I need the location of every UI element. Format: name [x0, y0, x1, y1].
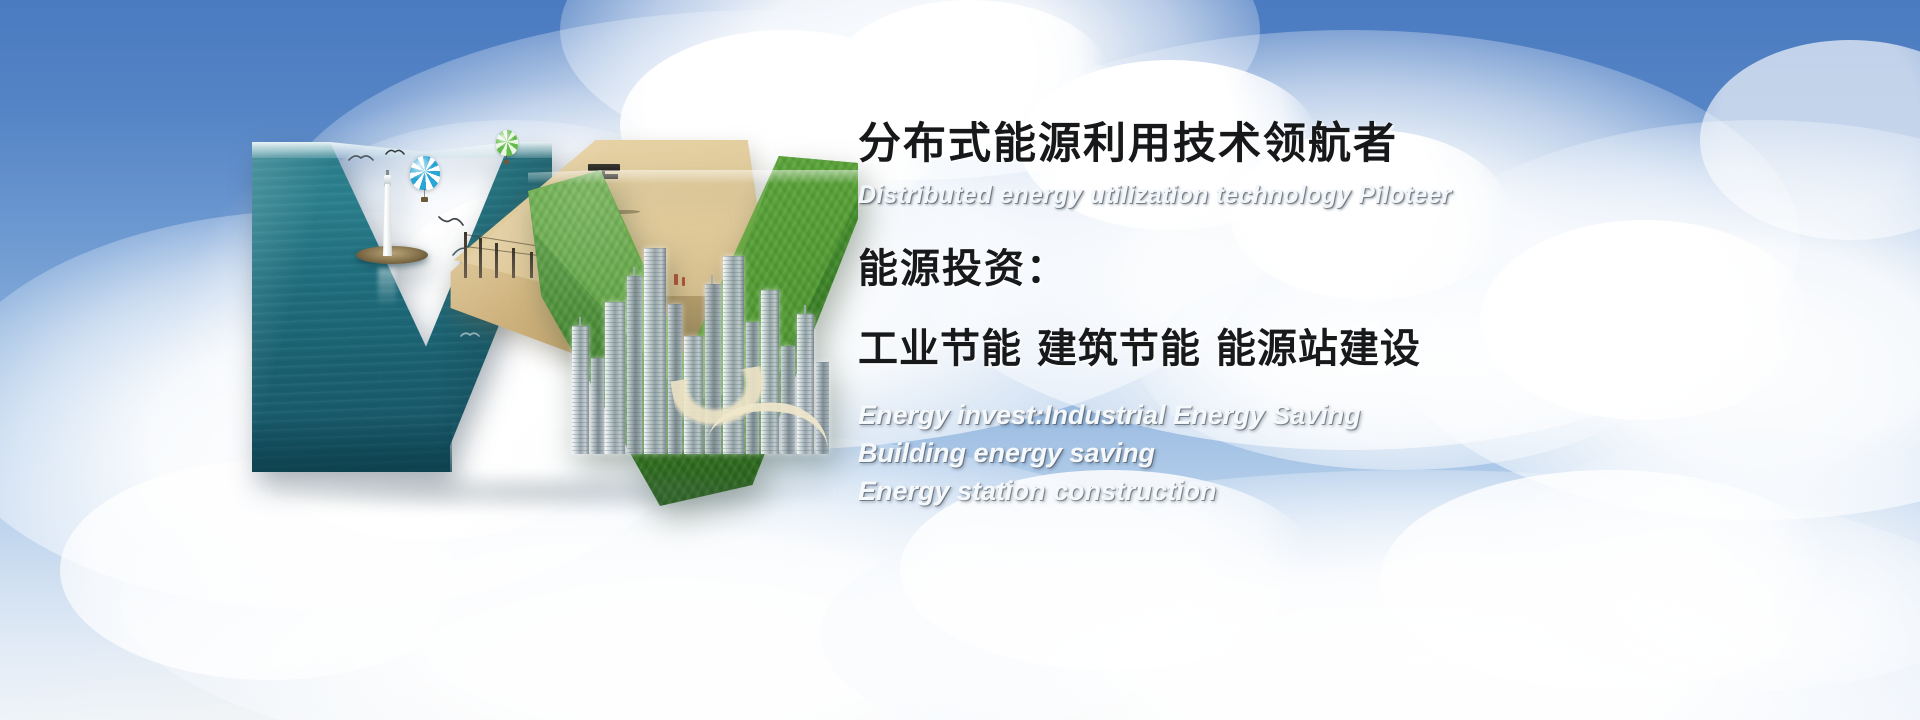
- seagull-icon: [385, 147, 405, 157]
- hot-air-balloon-icon: [496, 130, 518, 164]
- fence-post: [464, 232, 467, 278]
- skyscraper-icon: [591, 358, 604, 454]
- lighthouse-reflection: [378, 268, 396, 308]
- subtitle-english: Distributed energy utilization technolog…: [858, 181, 1858, 210]
- skyscraper-icon: [644, 248, 666, 454]
- energy-invest-label: 能源投资：: [858, 236, 1858, 294]
- balloon-basket: [504, 160, 509, 164]
- hot-air-balloon-icon: [410, 156, 440, 204]
- logo-ground-shadow: [272, 472, 832, 512]
- banner-text-block: 分布式能源利用技术领航者 Distributed energy utilizat…: [858, 122, 1858, 511]
- hero-banner: 分布式能源利用技术领航者 Distributed energy utilizat…: [0, 0, 1920, 720]
- grass-panel: [528, 156, 858, 506]
- service-line-3: Energy station construction: [858, 472, 1858, 510]
- grass-top-edge: [528, 170, 858, 184]
- lighthouse-tower: [383, 184, 392, 256]
- fence-post: [495, 243, 498, 278]
- balloon-basket: [421, 197, 428, 202]
- balloon-envelope: [410, 156, 440, 190]
- services-chinese: 工业节能 建筑节能 能源站建设: [858, 316, 1858, 374]
- w-letter-graphic: [232, 120, 842, 510]
- seagull-icon: [348, 152, 374, 164]
- fence-post: [479, 238, 482, 278]
- skyscraper-icon: [627, 276, 642, 454]
- english-service-list: Energy invest:Industrial Energy Saving B…: [858, 396, 1858, 511]
- service-line-1: Energy invest:Industrial Energy Saving: [858, 396, 1858, 434]
- balloon-envelope: [496, 130, 518, 156]
- skyscraper-icon: [605, 302, 625, 454]
- skyscraper-icon: [572, 326, 589, 454]
- service-line-2: Building energy saving: [858, 434, 1858, 472]
- lighthouse-icon: [380, 170, 395, 256]
- ocean-depth-shadow: [252, 416, 452, 472]
- headline-chinese: 分布式能源利用技术领航者: [858, 122, 1858, 168]
